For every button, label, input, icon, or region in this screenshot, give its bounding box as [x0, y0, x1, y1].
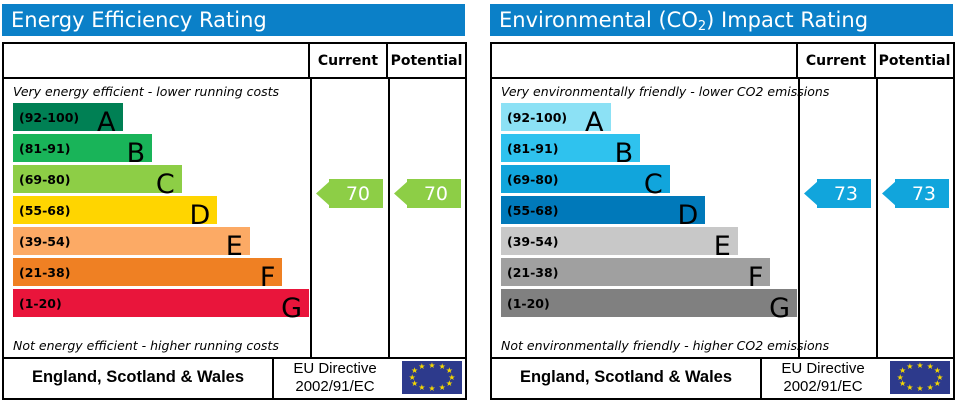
energy-efficiency-rating-chart: Energy Efficiency Rating Current Potenti…	[0, 0, 469, 404]
chart-title-co2: Environmental (CO2) Impact Rating	[490, 4, 953, 36]
energy-band-a: (92-100) A	[13, 103, 123, 131]
chart-title-co2-subscript: 2	[698, 19, 706, 34]
energy-table: Current Potential Very energy efficient …	[2, 42, 467, 400]
co2-potential-rating-value: 73	[912, 183, 936, 205]
chart-title-co2-suffix: ) Impact Rating	[706, 8, 868, 32]
co2-current-rating-arrow: 73	[804, 179, 871, 208]
energy-band-f-letter: F	[260, 264, 276, 291]
eu-flag-icon: ★ ★ ★ ★ ★ ★ ★ ★ ★ ★ ★ ★	[402, 361, 462, 394]
co2-band-c: (69-80) C	[501, 165, 670, 193]
co2-band-c-letter: C	[644, 171, 663, 198]
co2-footer-row: England, Scotland & Wales EU Directive 2…	[492, 357, 953, 398]
energy-column-divider-1	[310, 79, 312, 357]
energy-body-area: Very energy efficient - lower running co…	[4, 79, 465, 359]
energy-band-a-range: (92-100)	[13, 110, 79, 125]
co2-band-a-letter: A	[585, 109, 603, 136]
co2-header-row: Current Potential	[492, 44, 953, 79]
energy-band-e-letter: E	[226, 233, 243, 260]
co2-potential-rating-arrow: 73	[882, 179, 949, 208]
co2-band-d-range: (55-68)	[501, 203, 558, 218]
co2-footer-directive: EU Directive 2002/91/EC	[760, 357, 884, 398]
co2-band-d-letter: D	[677, 202, 698, 229]
co2-header-potential: Potential	[876, 44, 953, 77]
co2-directive-line1: EU Directive	[781, 360, 864, 377]
co2-bands: (92-100) A (81-91) B (69-80) C (55-68) D	[501, 103, 797, 320]
energy-directive-line1: EU Directive	[293, 360, 376, 377]
energy-band-d: (55-68) D	[13, 196, 217, 224]
energy-band-g: (1-20) G	[13, 289, 309, 317]
energy-directive-line2: 2002/91/EC	[295, 378, 374, 395]
energy-band-d-range: (55-68)	[13, 203, 70, 218]
energy-current-rating-value: 70	[346, 183, 370, 205]
chart-title-energy-text: Energy Efficiency Rating	[11, 8, 267, 32]
co2-band-f-letter: F	[748, 264, 764, 291]
co2-band-d: (55-68) D	[501, 196, 705, 224]
environmental-co2-impact-rating-chart: Environmental (CO2) Impact Rating Curren…	[488, 0, 957, 404]
co2-band-e: (39-54) E	[501, 227, 738, 255]
energy-band-b-range: (81-91)	[13, 141, 70, 156]
co2-current-rating-value: 73	[834, 183, 858, 205]
co2-band-f: (21-38) F	[501, 258, 770, 286]
co2-band-a: (92-100) A	[501, 103, 611, 131]
energy-header-row: Current Potential	[4, 44, 465, 79]
co2-band-e-letter: E	[714, 233, 731, 260]
chart-title-co2-prefix: Environmental (CO	[499, 8, 698, 32]
energy-caption-top: Very energy efficient - lower running co…	[13, 84, 279, 99]
energy-current-rating-arrow: 70	[316, 179, 383, 208]
co2-band-b-range: (81-91)	[501, 141, 558, 156]
energy-band-c-letter: C	[156, 171, 175, 198]
co2-caption-bottom: Not environmentally friendly - higher CO…	[501, 338, 829, 353]
co2-band-a-range: (92-100)	[501, 110, 567, 125]
eu-flag-icon: ★ ★ ★ ★ ★ ★ ★ ★ ★ ★ ★ ★	[890, 361, 950, 394]
energy-header-potential: Potential	[388, 44, 465, 77]
energy-band-e-range: (39-54)	[13, 234, 70, 249]
energy-band-g-range: (1-20)	[13, 296, 62, 311]
energy-band-c-range: (69-80)	[13, 172, 70, 187]
co2-band-g-letter: G	[769, 295, 790, 322]
co2-table: Current Potential Very environmentally f…	[490, 42, 955, 400]
co2-column-divider-1	[798, 79, 800, 357]
co2-band-b: (81-91) B	[501, 134, 640, 162]
energy-column-divider-2	[388, 79, 390, 357]
co2-band-b-letter: B	[615, 140, 634, 167]
energy-header-blank-cell	[4, 44, 310, 77]
energy-band-f: (21-38) F	[13, 258, 282, 286]
co2-directive-line2: 2002/91/EC	[783, 378, 862, 395]
co2-header-blank-cell	[492, 44, 798, 77]
energy-band-g-letter: G	[281, 295, 302, 322]
co2-band-f-range: (21-38)	[501, 265, 558, 280]
co2-band-c-range: (69-80)	[501, 172, 558, 187]
energy-band-a-letter: A	[97, 109, 115, 136]
co2-footer-region: England, Scotland & Wales	[492, 357, 760, 398]
energy-band-c: (69-80) C	[13, 165, 182, 193]
energy-band-e: (39-54) E	[13, 227, 250, 255]
co2-body-area: Very environmentally friendly - lower CO…	[492, 79, 953, 359]
co2-band-g: (1-20) G	[501, 289, 797, 317]
co2-header-current: Current	[798, 44, 876, 77]
co2-caption-top: Very environmentally friendly - lower CO…	[501, 84, 829, 99]
energy-caption-bottom: Not energy efficient - higher running co…	[13, 338, 279, 353]
energy-footer-region: England, Scotland & Wales	[4, 357, 272, 398]
energy-band-f-range: (21-38)	[13, 265, 70, 280]
energy-band-d-letter: D	[189, 202, 210, 229]
energy-footer-directive: EU Directive 2002/91/EC	[272, 357, 396, 398]
energy-potential-rating-arrow: 70	[394, 179, 461, 208]
epc-charts-page: Energy Efficiency Rating Current Potenti…	[0, 0, 957, 404]
energy-band-b: (81-91) B	[13, 134, 152, 162]
energy-band-b-letter: B	[127, 140, 146, 167]
co2-column-divider-2	[876, 79, 878, 357]
energy-header-current: Current	[310, 44, 388, 77]
energy-footer-row: England, Scotland & Wales EU Directive 2…	[4, 357, 465, 398]
co2-band-g-range: (1-20)	[501, 296, 550, 311]
energy-bands: (92-100) A (81-91) B (69-80) C (55-68) D	[13, 103, 309, 320]
chart-title-energy: Energy Efficiency Rating	[2, 4, 465, 36]
co2-band-e-range: (39-54)	[501, 234, 558, 249]
energy-potential-rating-value: 70	[424, 183, 448, 205]
